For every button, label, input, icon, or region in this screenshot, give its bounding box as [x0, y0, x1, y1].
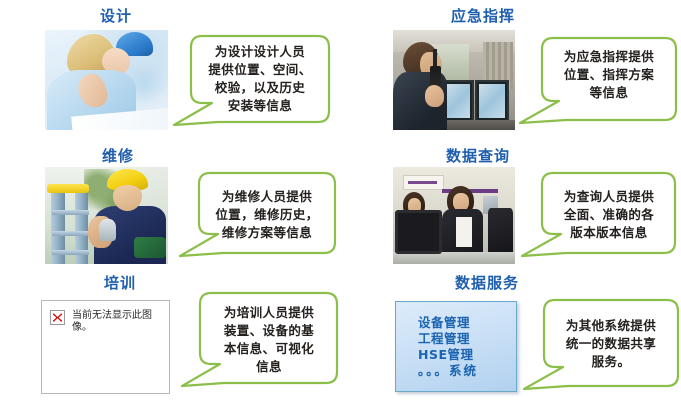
callout-data-service-text: 为其他系统提供 统一的数据共享 服务。: [546, 317, 676, 371]
callout-maintenance[interactable]: 为维修人员提供 位置，维修历史， 维修方案等信息: [178, 170, 338, 260]
callout-data-query-text: 为查询人员提供 全面、准确的各 版本版本信息: [544, 188, 674, 242]
callout-training[interactable]: 为培训人员提供 装置、设备的基 本信息、可视化 信息: [180, 290, 340, 390]
panel-title-data-service: 数据服务: [455, 272, 519, 293]
callout-data-service[interactable]: 为其他系统提供 统一的数据共享 服务。: [522, 297, 680, 392]
panel-title-design: 设计: [100, 5, 132, 26]
callout-emergency-command[interactable]: 为应急指挥提供 位置、指挥方案 等信息: [518, 35, 678, 127]
photo-design: [45, 30, 168, 130]
panel-title-training: 培训: [104, 272, 136, 293]
panel-title-emergency-command: 应急指挥: [451, 5, 515, 26]
slide-canvas: 设计 为设计设计人员 提供位置、空间、 校验，以及历史 安装等信息 应急指挥: [0, 0, 681, 400]
photo-data-query: [393, 167, 515, 264]
service-module-box: 设备管理 工程管理 HSE管理 。。。系统: [395, 301, 517, 392]
callout-maintenance-text: 为维修人员提供 位置，维修历史， 维修方案等信息: [201, 188, 333, 242]
service-line-3: HSE管理: [418, 347, 516, 363]
panel-title-maintenance: 维修: [102, 145, 134, 166]
photo-maintenance: [45, 167, 168, 264]
callout-training-text: 为培训人员提供 装置、设备的基 本信息、可视化 信息: [202, 304, 336, 376]
callout-design-text: 为设计设计人员 提供位置、空间、 校验，以及历史 安装等信息: [193, 43, 327, 115]
panel-title-data-query: 数据查询: [446, 145, 510, 166]
broken-image-placeholder-training: 当前无法显示此图像。: [41, 300, 170, 394]
callout-emergency-command-text: 为应急指挥提供 位置、指挥方案 等信息: [544, 48, 674, 102]
service-line-1: 设备管理: [418, 315, 516, 331]
callout-data-query[interactable]: 为查询人员提供 全面、准确的各 版本版本信息: [520, 170, 678, 260]
photo-emergency-command: [393, 30, 515, 130]
broken-image-message: 当前无法显示此图像。: [72, 310, 161, 334]
service-line-4: 。。。系统: [418, 363, 516, 379]
callout-design[interactable]: 为设计设计人员 提供位置、空间、 校验，以及历史 安装等信息: [172, 33, 332, 128]
broken-image-red-x-icon: [50, 310, 65, 325]
service-line-2: 工程管理: [418, 331, 516, 347]
